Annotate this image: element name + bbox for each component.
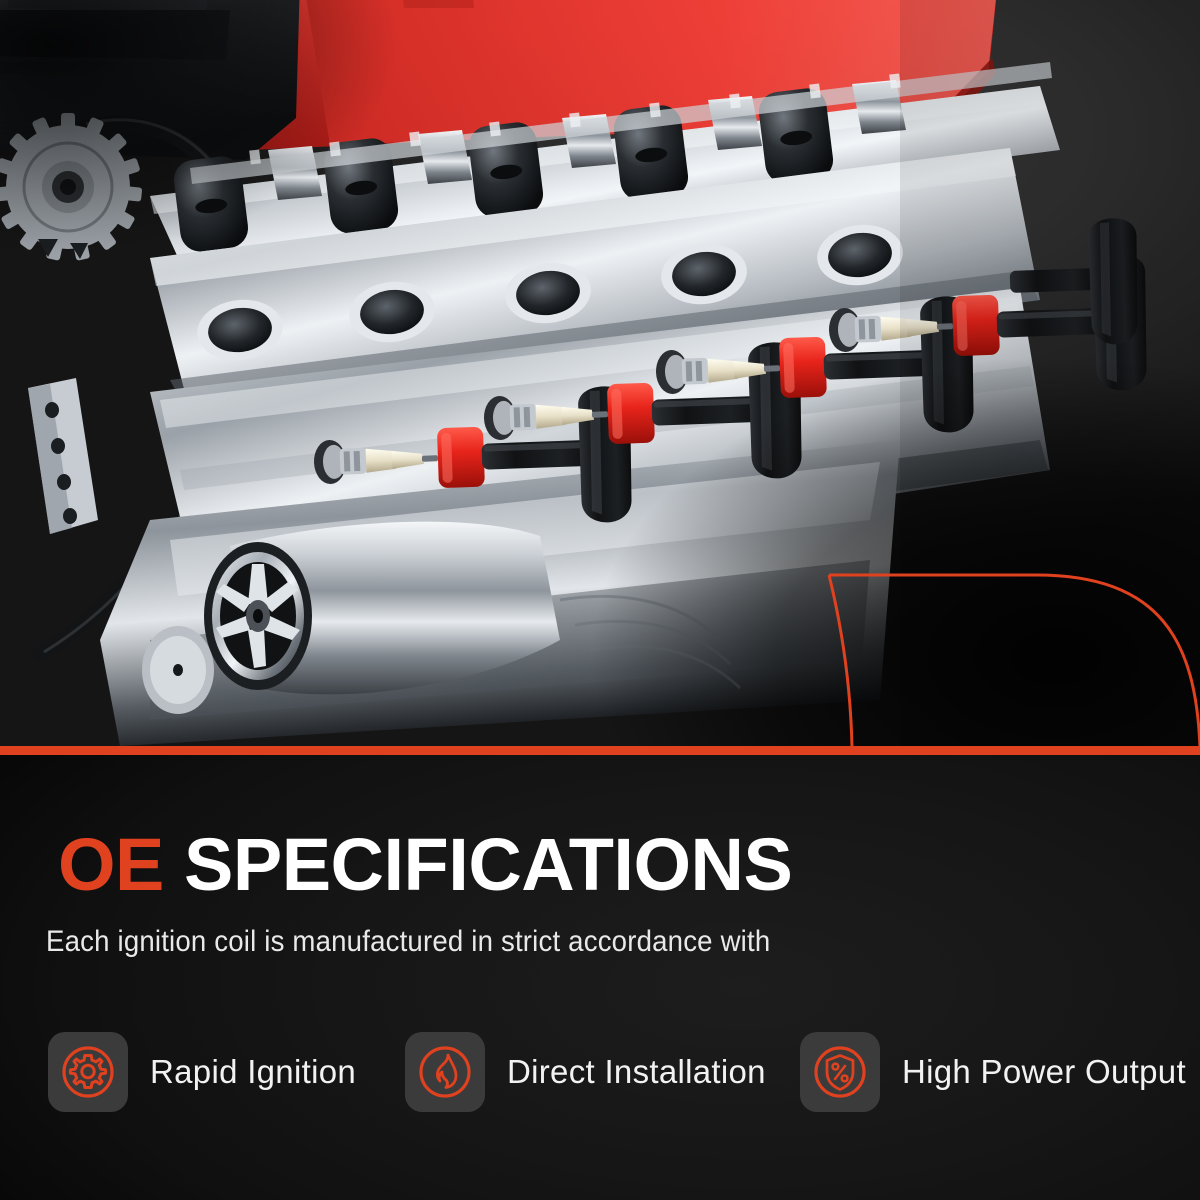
product-marketing-banner: OE SPECIFICATIONS Each ignition coil is … [0,0,1200,1200]
info-panel [0,755,1200,1200]
gear-in-circle-icon [48,1032,128,1112]
page-subtitle: Each ignition coil is manufactured in st… [46,925,770,959]
engine-illustration [0,0,1200,746]
engine-crank-pulley [204,542,312,690]
headline-rest: SPECIFICATIONS [164,823,792,906]
coil-boot [779,337,827,399]
shield-percent-in-circle-icon [800,1032,880,1112]
flame-in-circle-icon [405,1032,485,1112]
feature-item-rapid-ignition[interactable]: Rapid Ignition [48,1028,356,1116]
coil-rod [481,440,594,470]
page-title: OE SPECIFICATIONS [58,828,792,902]
feature-label: High Power Output [902,1053,1186,1091]
engine-mount-bracket [28,378,98,534]
accent-divider [0,746,1200,755]
coil-boot [607,383,655,445]
feature-item-direct-installation[interactable]: Direct Installation [405,1028,766,1116]
feature-item-high-power-output[interactable]: High Power Output [800,1028,1186,1116]
feature-list: Rapid Ignition Direct Installation [0,1028,1200,1120]
engine-belt-pulley-small [142,626,214,714]
headline-highlight: OE [58,823,164,906]
coil-rod [651,396,764,426]
coil-boot [437,427,485,489]
feature-label: Direct Installation [507,1053,766,1091]
feature-label: Rapid Ignition [150,1053,356,1091]
hero-image [0,0,1200,746]
